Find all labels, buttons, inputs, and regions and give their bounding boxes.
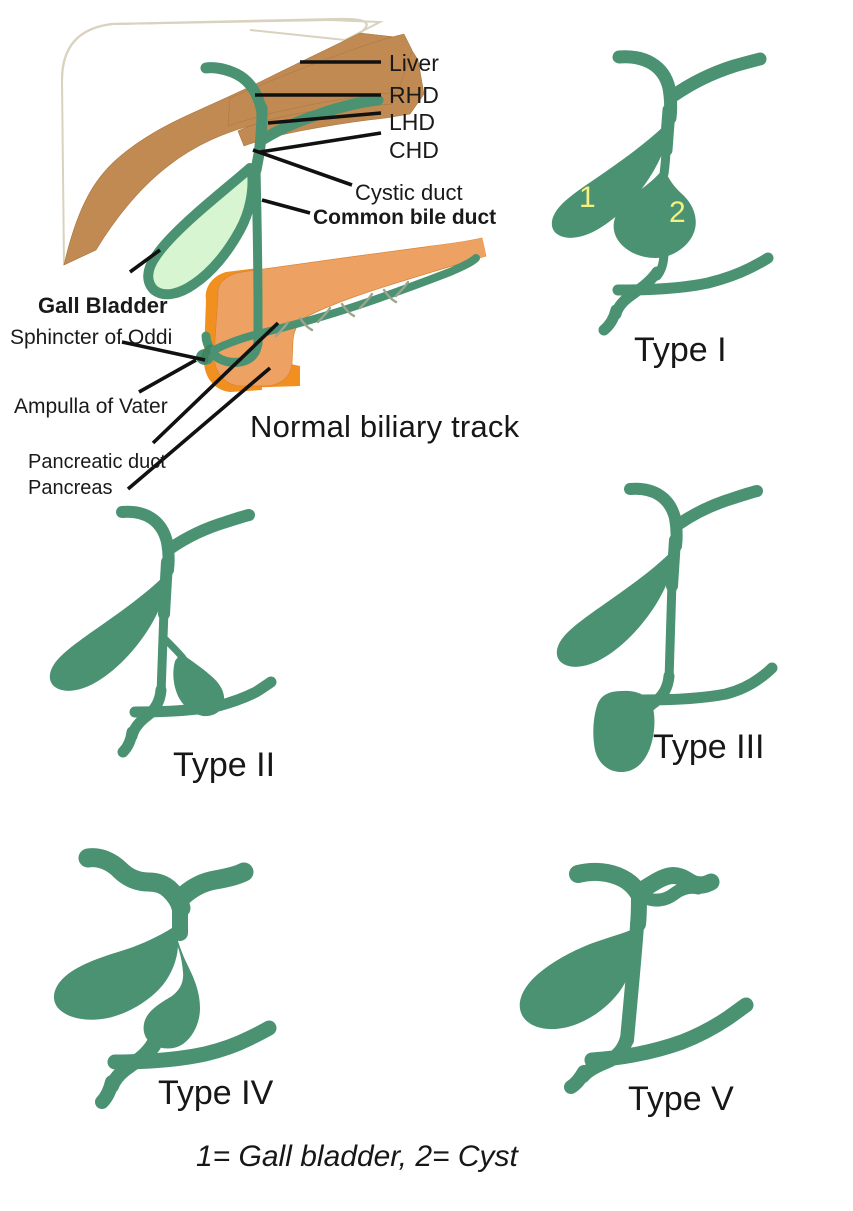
t5-gall-bladder [520, 928, 637, 1029]
t5-pancreatic-duct [592, 1005, 746, 1060]
t5-duodenum-limb-down [571, 1072, 584, 1087]
legend-caption: 1= Gall bladder, 2= Cyst [196, 1140, 518, 1174]
type-5-label: Type V [628, 1080, 734, 1119]
biliary-classification-figure: Liver RHD LHD CHD Cystic duct Common bil… [0, 0, 853, 1211]
t5-left-intrahepatic-beaded [578, 872, 640, 896]
type-5-illustration [0, 0, 853, 1211]
